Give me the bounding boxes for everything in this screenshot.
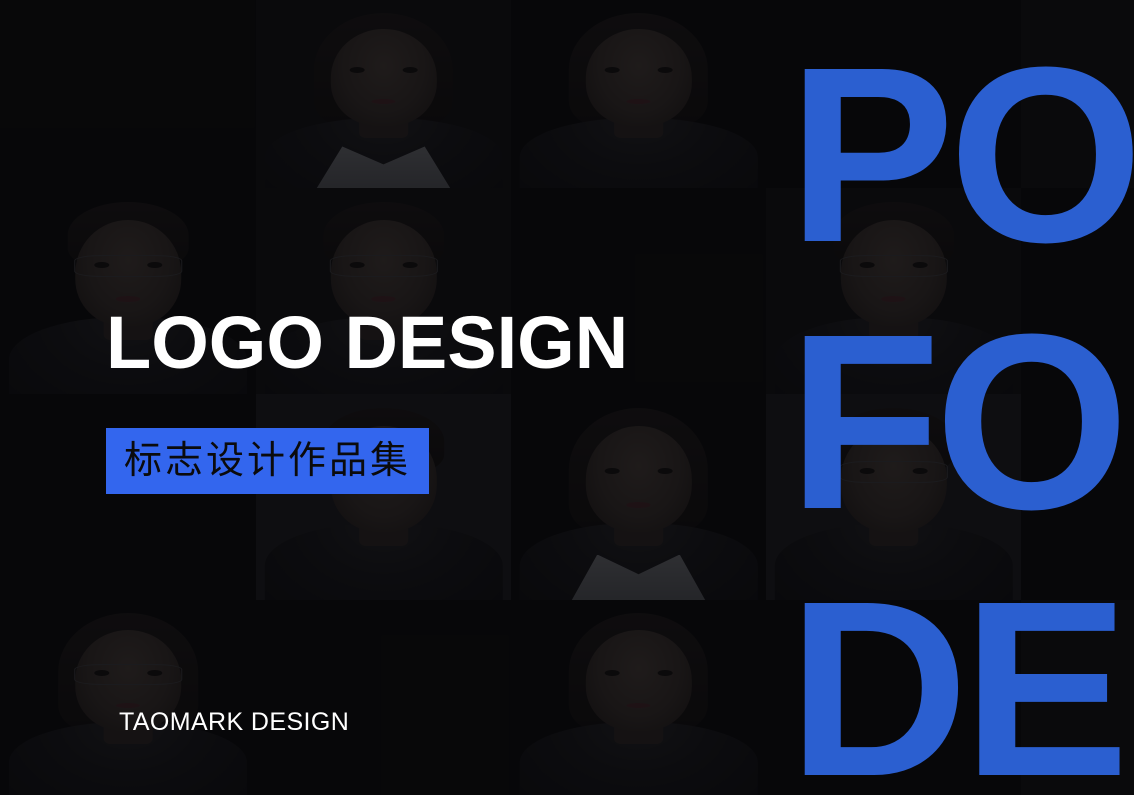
portrait-figure <box>544 600 733 795</box>
portrait-figure <box>799 394 988 600</box>
photo-cell <box>1021 394 1134 600</box>
photo-cell <box>766 188 1021 394</box>
photo-cell <box>1021 188 1134 394</box>
portrait-figure <box>289 0 478 188</box>
headline-block: LOGO DESIGN 标志设计作品集 <box>106 306 628 494</box>
subtitle-badge: 标志设计作品集 <box>106 428 429 494</box>
photo-cell <box>766 0 1021 188</box>
photo-cell <box>511 600 766 795</box>
photo-cell <box>256 600 511 795</box>
portrait-figure <box>799 188 988 394</box>
poster-canvas: PO FO DE LOGO DESIGN 标志设计作品集 TAOMARK DES… <box>0 0 1134 795</box>
photo-cell <box>1021 600 1134 795</box>
photo-cell <box>511 0 766 188</box>
portrait-figure <box>33 600 222 795</box>
photo-cell <box>256 0 511 188</box>
photo-cell <box>1021 0 1134 188</box>
photo-cell <box>766 394 1021 600</box>
page-title: LOGO DESIGN <box>106 306 628 380</box>
photo-cell <box>766 600 1021 795</box>
photo-cell <box>0 600 256 795</box>
photo-cell <box>0 0 256 188</box>
portrait-figure <box>544 0 733 188</box>
brand-label: TAOMARK DESIGN <box>119 708 349 737</box>
